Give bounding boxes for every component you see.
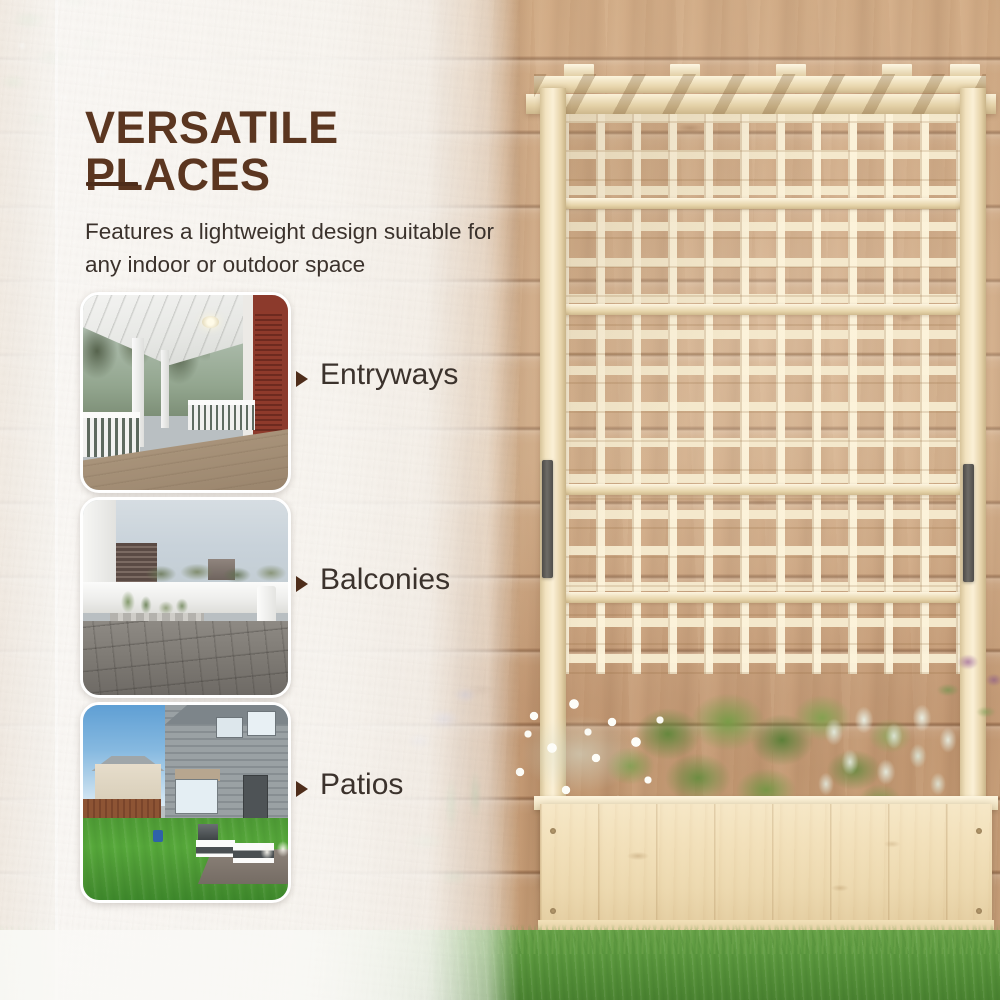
balcony-side-wall xyxy=(83,500,116,586)
triangle-right-icon xyxy=(296,781,308,797)
porch-column xyxy=(161,350,169,428)
lattice-rail xyxy=(546,304,966,315)
title-divider xyxy=(86,182,138,186)
triangle-right-icon xyxy=(296,576,308,592)
mounting-bracket-right xyxy=(963,464,974,582)
lattice-rail xyxy=(546,592,966,603)
feature-label-patios: Patios xyxy=(320,768,403,802)
mounting-bracket-left xyxy=(542,460,553,578)
porch-railing xyxy=(188,400,256,429)
grass-panel-fade xyxy=(0,930,470,1000)
porch-red-shutter xyxy=(255,311,282,451)
thumbnail-balconies[interactable] xyxy=(80,497,291,698)
thumbnail-entryways[interactable] xyxy=(80,292,291,493)
planter-wood-grain xyxy=(540,804,992,939)
product-trellis-planter xyxy=(520,36,1000,956)
patio-window xyxy=(247,711,276,736)
patio-window xyxy=(175,779,218,814)
patio-grill xyxy=(198,824,219,840)
patio-chairs xyxy=(257,840,288,865)
balcony-tiles xyxy=(83,621,288,695)
planter-screw xyxy=(976,828,982,834)
porch-railing xyxy=(83,412,140,457)
feature-label-entryways: Entryways xyxy=(320,358,458,392)
pergola-cap-slats xyxy=(534,74,986,116)
feature-row-patios: Patios xyxy=(0,702,470,902)
page-title: VERSATILE PLACES xyxy=(85,105,515,199)
thumbnail-patios[interactable] xyxy=(80,702,291,903)
purple-blooms xyxy=(920,626,1000,746)
planter-screw xyxy=(976,908,982,914)
patio-bench xyxy=(196,840,235,858)
feature-label-balconies: Balconies xyxy=(320,563,450,597)
marketing-banner: VERSATILE PLACES Features a lightweight … xyxy=(0,0,1000,1000)
patio-window xyxy=(216,717,243,739)
lattice-rail xyxy=(546,484,966,495)
patio-bucket xyxy=(153,830,163,842)
subtitle-text: Features a lightweight design suitable f… xyxy=(85,216,515,281)
lattice-rail xyxy=(546,198,966,209)
feature-row-entryways: Entryways xyxy=(0,292,470,492)
balcony-photo xyxy=(83,500,288,695)
feature-row-balconies: Balconies xyxy=(0,497,470,697)
triangle-right-icon xyxy=(296,371,308,387)
planter-screw xyxy=(550,908,556,914)
porch-photo xyxy=(83,295,288,490)
planter-screw xyxy=(550,828,556,834)
patio-photo xyxy=(83,705,288,900)
